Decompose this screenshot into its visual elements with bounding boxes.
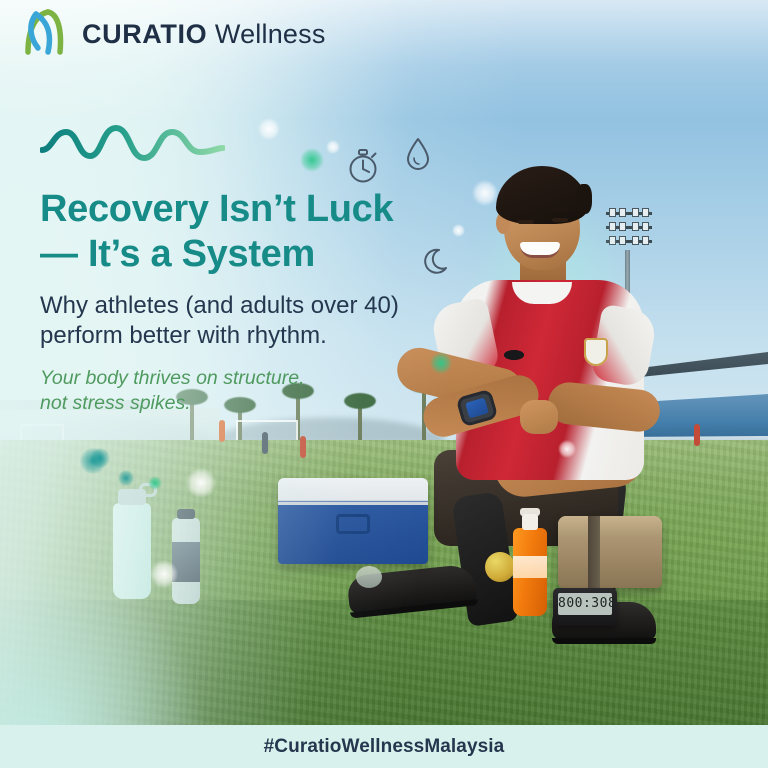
hashtag: #CuratioWellnessMalaysia <box>264 736 505 758</box>
subhead-line-2: perform better with rhythm. <box>40 321 470 352</box>
headline-line-1: Recovery Isn’t Luck <box>40 188 393 230</box>
brand-name-bold: CURATIO <box>82 19 207 49</box>
brand-name-light: Wellness <box>215 19 326 49</box>
bottom-left-mint-glow <box>0 438 330 768</box>
brand-lockup[interactable]: CURATIO Wellness <box>18 8 326 61</box>
bokeh-light <box>148 476 162 490</box>
subheadline: Why athletes (and adults over 40) perfor… <box>40 291 470 352</box>
brand-name: CURATIO Wellness <box>82 19 326 50</box>
bokeh-light <box>90 448 110 468</box>
bokeh-light <box>150 560 178 588</box>
subhead-line-1: Why athletes (and adults over 40) <box>40 292 399 319</box>
page-title: Recovery Isn’t Luck — It’s a System <box>40 187 470 277</box>
headline-line-2: — It’s a System <box>40 232 470 277</box>
social-poster: 800:308 CURATIO Wellness <box>0 0 768 768</box>
copy-block: Recovery Isn’t Luck — It’s a System Why … <box>40 122 470 417</box>
tagline-line-2: not stress spikes. <box>40 391 470 416</box>
footer-band: #CuratioWellnessMalaysia <box>0 725 768 768</box>
bokeh-light <box>118 470 134 486</box>
rhythm-wave-icon <box>40 122 470 171</box>
tagline-line-1: Your body thrives on structure, <box>40 367 304 389</box>
bokeh-light <box>186 468 216 498</box>
bokeh-light <box>472 180 498 206</box>
tagline: Your body thrives on structure, not stre… <box>40 366 470 417</box>
dna-helix-logo-icon <box>18 8 70 61</box>
bokeh-light <box>558 440 576 458</box>
